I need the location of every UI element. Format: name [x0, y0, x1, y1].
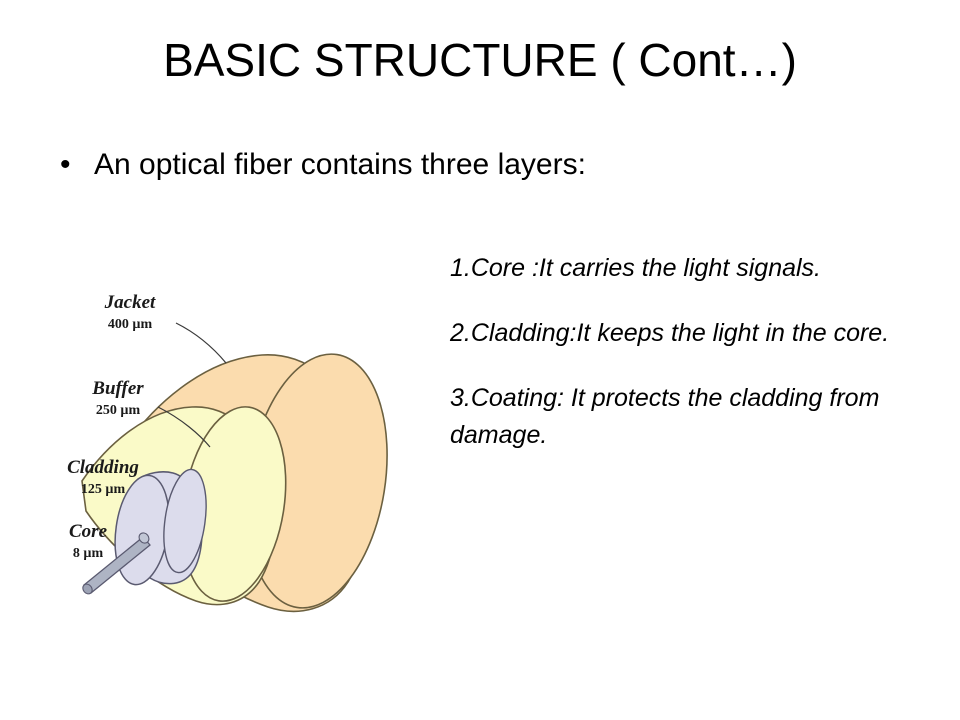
- numbered-list: 1.Core :It carries the light signals. 2.…: [450, 250, 942, 454]
- label-cladding-name: Cladding: [67, 457, 139, 478]
- fiber-diagram: Jacket 400 µm Buffer 250 µm Cladding 125…: [30, 255, 450, 620]
- label-jacket: Jacket 400 µm: [104, 292, 156, 332]
- label-jacket-name: Jacket: [104, 292, 156, 313]
- bullet-row: • An optical fiber contains three layers…: [54, 147, 754, 183]
- list-item: 2.Cladding:It keeps the light in the cor…: [450, 315, 942, 352]
- page-title: BASIC STRUCTURE ( Cont…): [0, 33, 960, 87]
- list-item: 3.Coating: It protects the cladding from…: [450, 380, 942, 454]
- label-core-size: 8 µm: [73, 546, 104, 561]
- label-core: Core 8 µm: [69, 521, 108, 561]
- bullet-text: An optical fiber contains three layers:: [94, 147, 586, 183]
- label-buffer: Buffer 250 µm: [91, 378, 144, 418]
- label-buffer-size: 250 µm: [96, 403, 141, 418]
- bullet-marker-icon: •: [54, 147, 94, 183]
- fiber-diagram-svg: Jacket 400 µm Buffer 250 µm Cladding 125…: [30, 255, 450, 620]
- label-core-name: Core: [69, 521, 108, 542]
- label-buffer-name: Buffer: [91, 378, 144, 399]
- label-cladding-size: 125 µm: [81, 482, 126, 497]
- slide-canvas: BASIC STRUCTURE ( Cont…) • An optical fi…: [0, 0, 960, 720]
- label-jacket-size: 400 µm: [108, 317, 153, 332]
- list-item: 1.Core :It carries the light signals.: [450, 250, 942, 287]
